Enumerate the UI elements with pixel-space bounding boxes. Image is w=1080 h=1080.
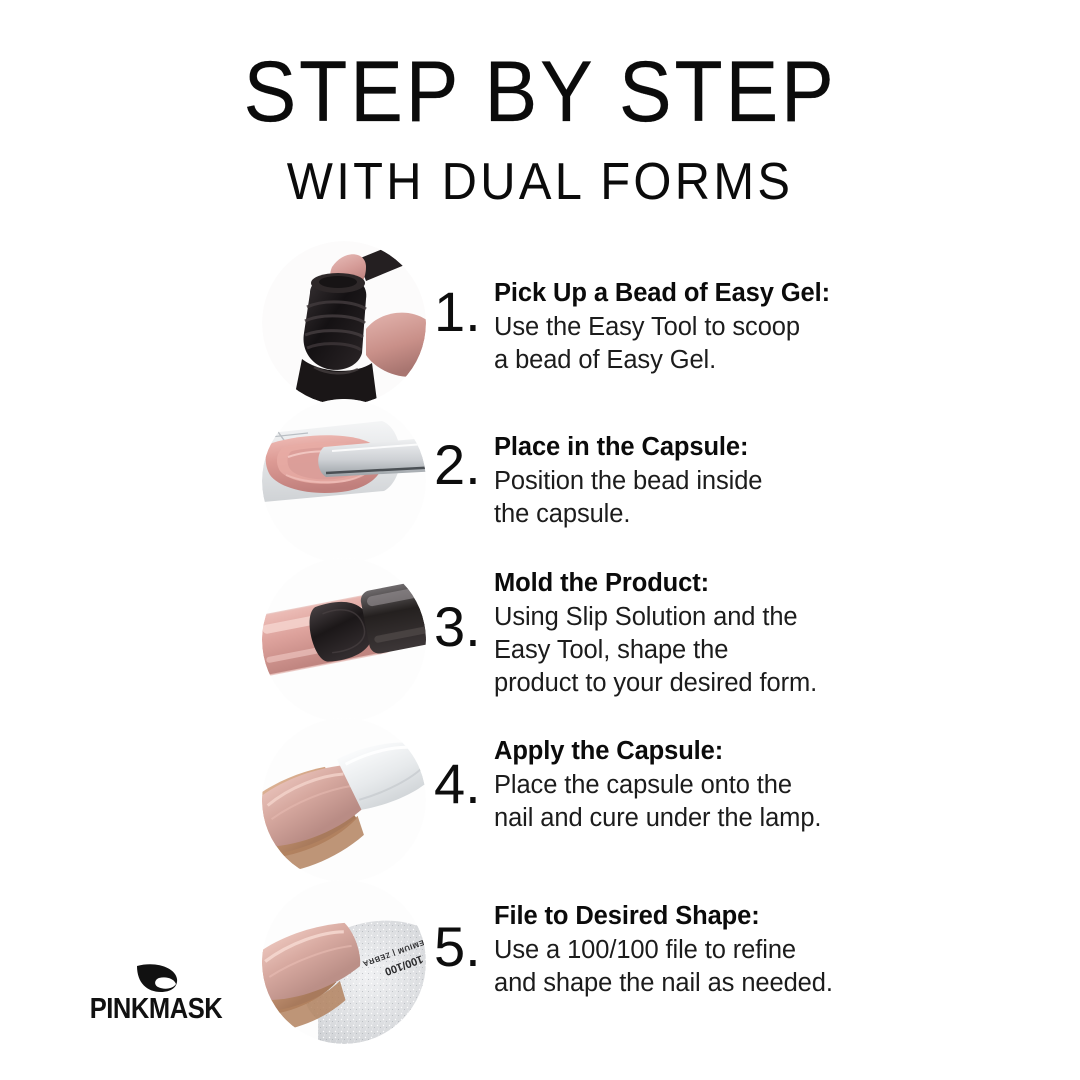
step-text-block: File to Desired Shape: Use a 100/100 fil…	[494, 901, 964, 1000]
step-item: 4. Apply the Capsule: Place the capsule …	[0, 718, 1080, 878]
step-body-line: Easy Tool, shape the	[494, 634, 964, 667]
photo-capsule-bead	[262, 399, 426, 563]
step-item: 3. Mold the Product: Using Slip Solution…	[0, 558, 1080, 718]
step-body: Using Slip Solution and the Easy Tool, s…	[494, 601, 964, 700]
photo-mold-brush	[262, 558, 426, 722]
step-number: 3.	[434, 599, 492, 655]
brand-logo: PINKMASK	[76, 959, 236, 1024]
page-title: STEP BY STEP	[43, 52, 1037, 134]
step-text-block: Pick Up a Bead of Easy Gel: Use the Easy…	[494, 278, 964, 377]
step-number: 4.	[434, 756, 492, 812]
step-title: Place in the Capsule:	[494, 432, 964, 464]
step-number: 1.	[434, 284, 492, 340]
step-body: Use the Easy Tool to scoop a bead of Eas…	[494, 311, 964, 377]
step-body-line: Use a 100/100 file to refine	[494, 934, 964, 967]
step-text-block: Place in the Capsule: Position the bead …	[494, 432, 964, 531]
pink-mask-leaf-icon	[76, 959, 236, 993]
step-item: 1. Pick Up a Bead of Easy Gel: Use the E…	[0, 238, 1080, 398]
step-text-block: Apply the Capsule: Place the capsule ont…	[494, 736, 964, 835]
step-text-block: Mold the Product: Using Slip Solution an…	[494, 568, 964, 700]
step-body: Place the capsule onto the nail and cure…	[494, 769, 964, 835]
photo-apply-capsule	[262, 718, 426, 882]
step-body-line: the capsule.	[494, 498, 964, 531]
photo-gel-bottle-bead	[262, 241, 426, 405]
step-item: 2. Place in the Capsule: Position the be…	[0, 398, 1080, 558]
step-title: Mold the Product:	[494, 568, 964, 600]
step-body-line: Use the Easy Tool to scoop	[494, 311, 964, 344]
step-body: Position the bead inside the capsule.	[494, 465, 964, 531]
step-body-line: Using Slip Solution and the	[494, 601, 964, 634]
step-title: File to Desired Shape:	[494, 901, 964, 933]
step-body-line: and shape the nail as needed.	[494, 967, 964, 1000]
step-body-line: Position the bead inside	[494, 465, 964, 498]
step-title: Pick Up a Bead of Easy Gel:	[494, 278, 964, 310]
step-title: Apply the Capsule:	[494, 736, 964, 768]
step-number: 2.	[434, 437, 492, 493]
step-body-line: a bead of Easy Gel.	[494, 344, 964, 377]
header: STEP BY STEP WITH DUAL FORMS	[0, 52, 1080, 208]
step-body-line: nail and cure under the lamp.	[494, 802, 964, 835]
page-subtitle: WITH DUAL FORMS	[32, 156, 1047, 208]
step-number: 5.	[434, 919, 492, 975]
infographic-page: STEP BY STEP WITH DUAL FORMS	[0, 0, 1080, 1080]
step-body: Use a 100/100 file to refine and shape t…	[494, 934, 964, 1000]
step-body-line: product to your desired form.	[494, 667, 964, 700]
steps-list: 1. Pick Up a Bead of Easy Gel: Use the E…	[0, 238, 1080, 1038]
step-body-line: Place the capsule onto the	[494, 769, 964, 802]
photo-file-nail: 100/100 PREMIUM | ZEBRA	[262, 880, 426, 1044]
brand-wordmark: PINKMASK	[86, 995, 227, 1024]
